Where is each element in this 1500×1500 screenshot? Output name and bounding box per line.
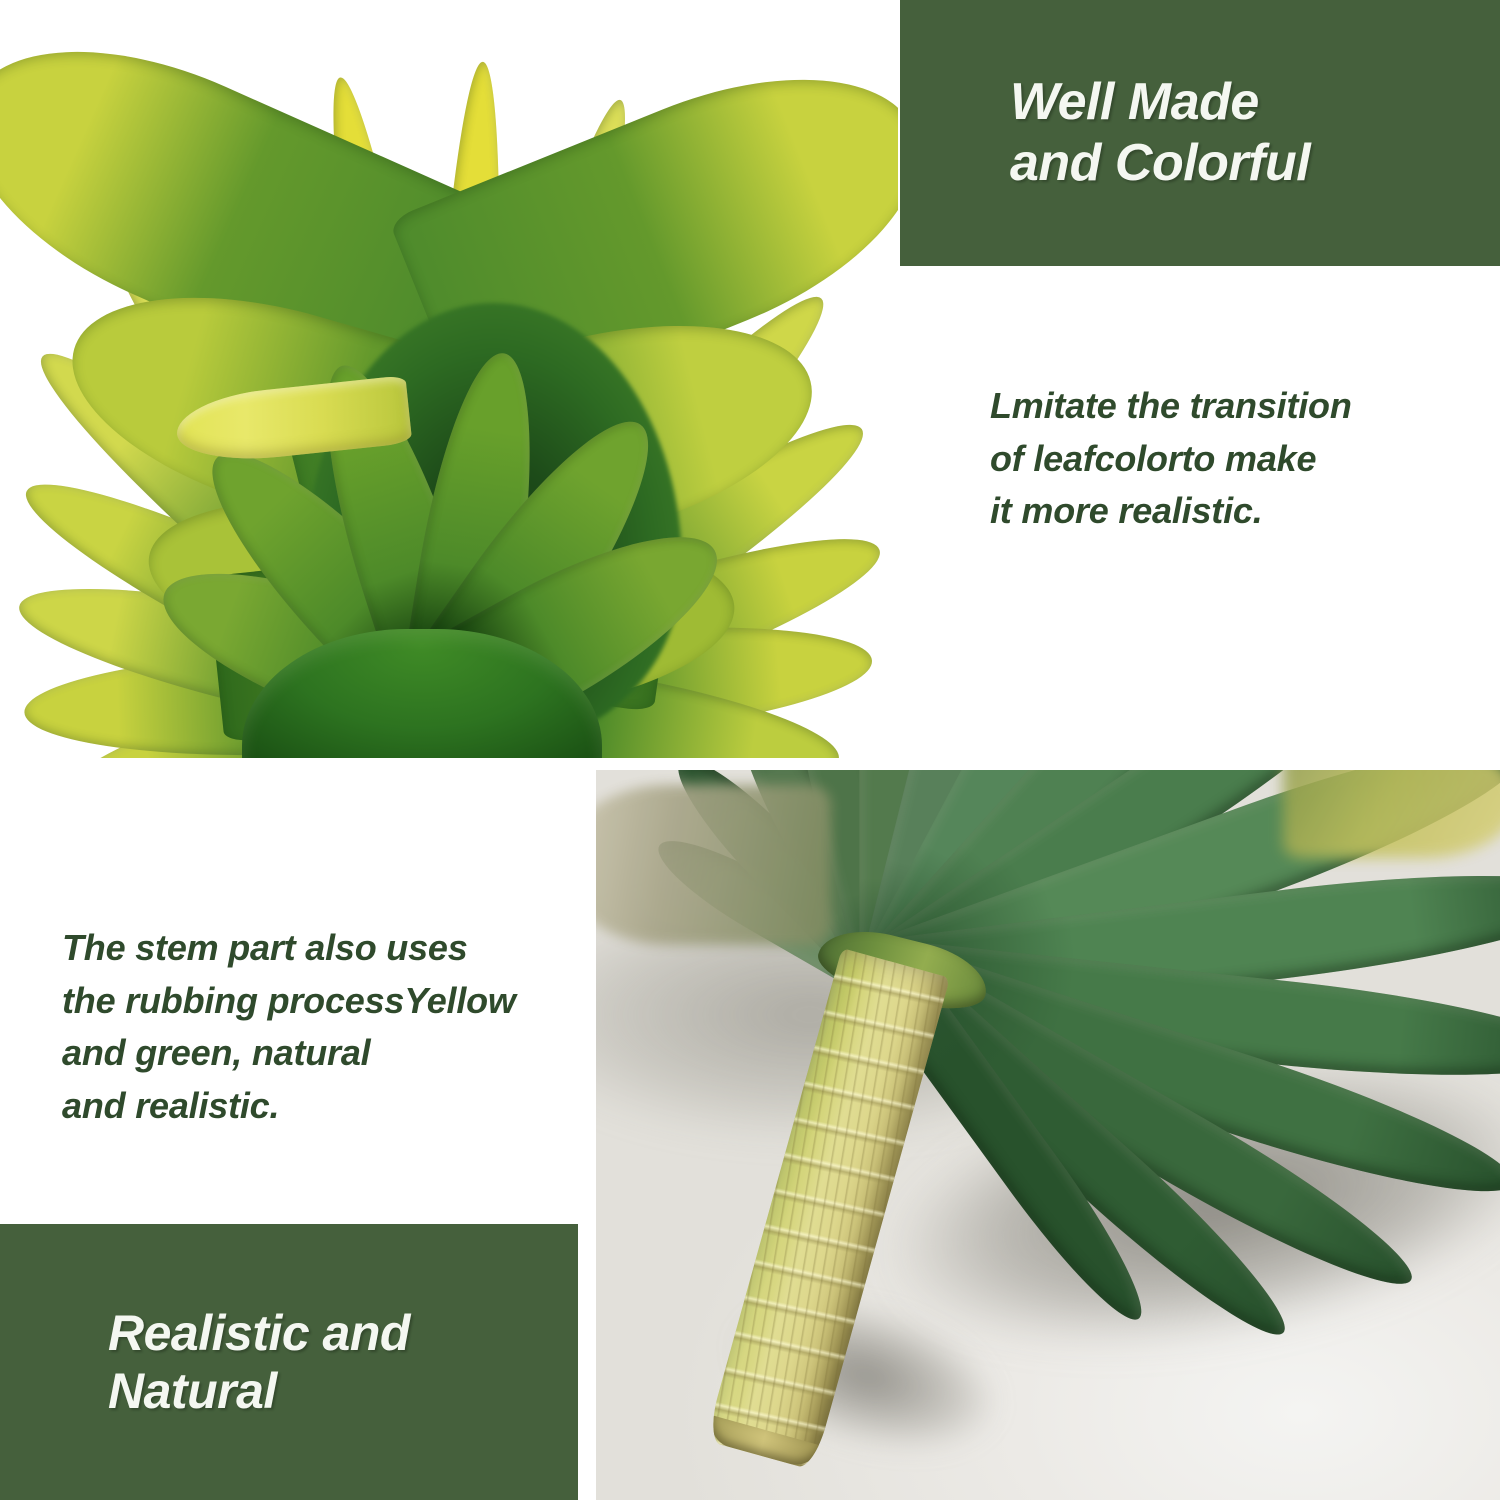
banner-title-well-made: Well Made and Colorful	[1010, 72, 1310, 194]
background-yellowing-leaf	[1283, 770, 1500, 858]
banner-title-realistic-natural: Realistic and Natural	[108, 1304, 410, 1421]
background-olive-leaf	[596, 785, 831, 946]
banner-well-made-and-colorful: Well Made and Colorful	[900, 0, 1500, 266]
infographic-canvas: Well Made and Colorful Lmitate the trans…	[0, 0, 1500, 1500]
description-text-leaf-color-transition: Lmitate the transition of leafcolorto ma…	[990, 380, 1460, 538]
product-photo-stem-detail	[596, 770, 1500, 1500]
product-photo-rosette-closeup	[0, 0, 898, 758]
description-text-stem-rubbing-process: The stem part also uses the rubbing proc…	[62, 922, 582, 1132]
banner-realistic-and-natural: Realistic and Natural	[0, 1224, 578, 1500]
